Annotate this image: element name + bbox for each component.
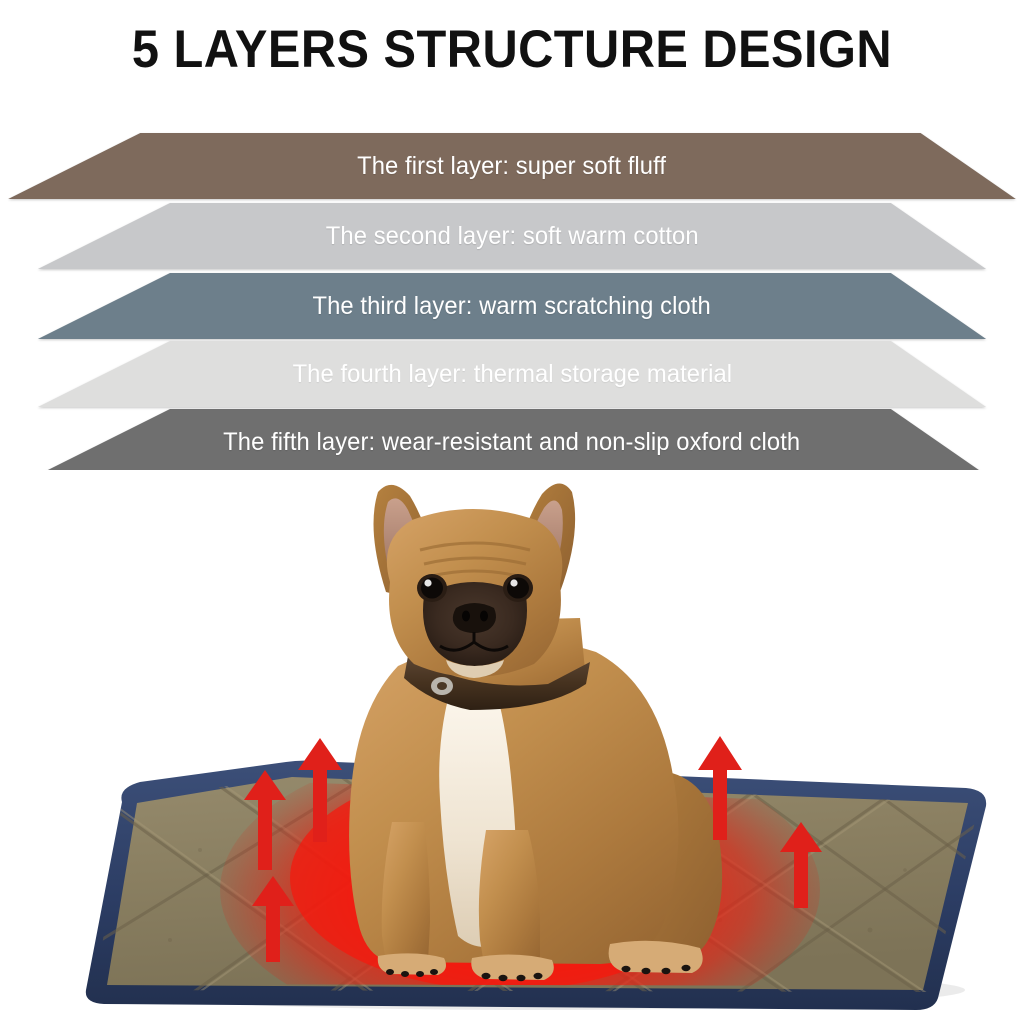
layer-band-2: The second layer: soft warm cotton	[0, 203, 1024, 269]
dog-nose	[453, 603, 496, 633]
product-photo	[0, 470, 1024, 1024]
layer-band-5: The fifth layer: wear-resistant and non-…	[0, 409, 1024, 475]
layer-band-3: The third layer: warm scratching cloth	[0, 273, 1024, 339]
layer-stack-diagram: The first layer: super soft fluff The se…	[0, 133, 1024, 475]
layer-label-4: The fourth layer: thermal storage materi…	[292, 360, 732, 389]
photo-illustration	[0, 470, 1024, 1024]
infographic-page: 5 LAYERS STRUCTURE DESIGN The first laye…	[0, 0, 1024, 1024]
layer-label-2: The second layer: soft warm cotton	[326, 222, 699, 251]
layer-label-5: The fifth layer: wear-resistant and non-…	[223, 428, 800, 457]
layer-label-1: The first layer: super soft fluff	[358, 152, 667, 181]
dog-eye-right	[503, 574, 533, 602]
french-bulldog	[349, 483, 722, 981]
layer-band-4: The fourth layer: thermal storage materi…	[0, 341, 1024, 407]
layer-band-1: The first layer: super soft fluff	[0, 133, 1024, 199]
dog-eye-left	[417, 574, 447, 602]
page-title: 5 LAYERS STRUCTURE DESIGN	[41, 22, 983, 78]
layer-label-3: The third layer: warm scratching cloth	[313, 292, 711, 321]
